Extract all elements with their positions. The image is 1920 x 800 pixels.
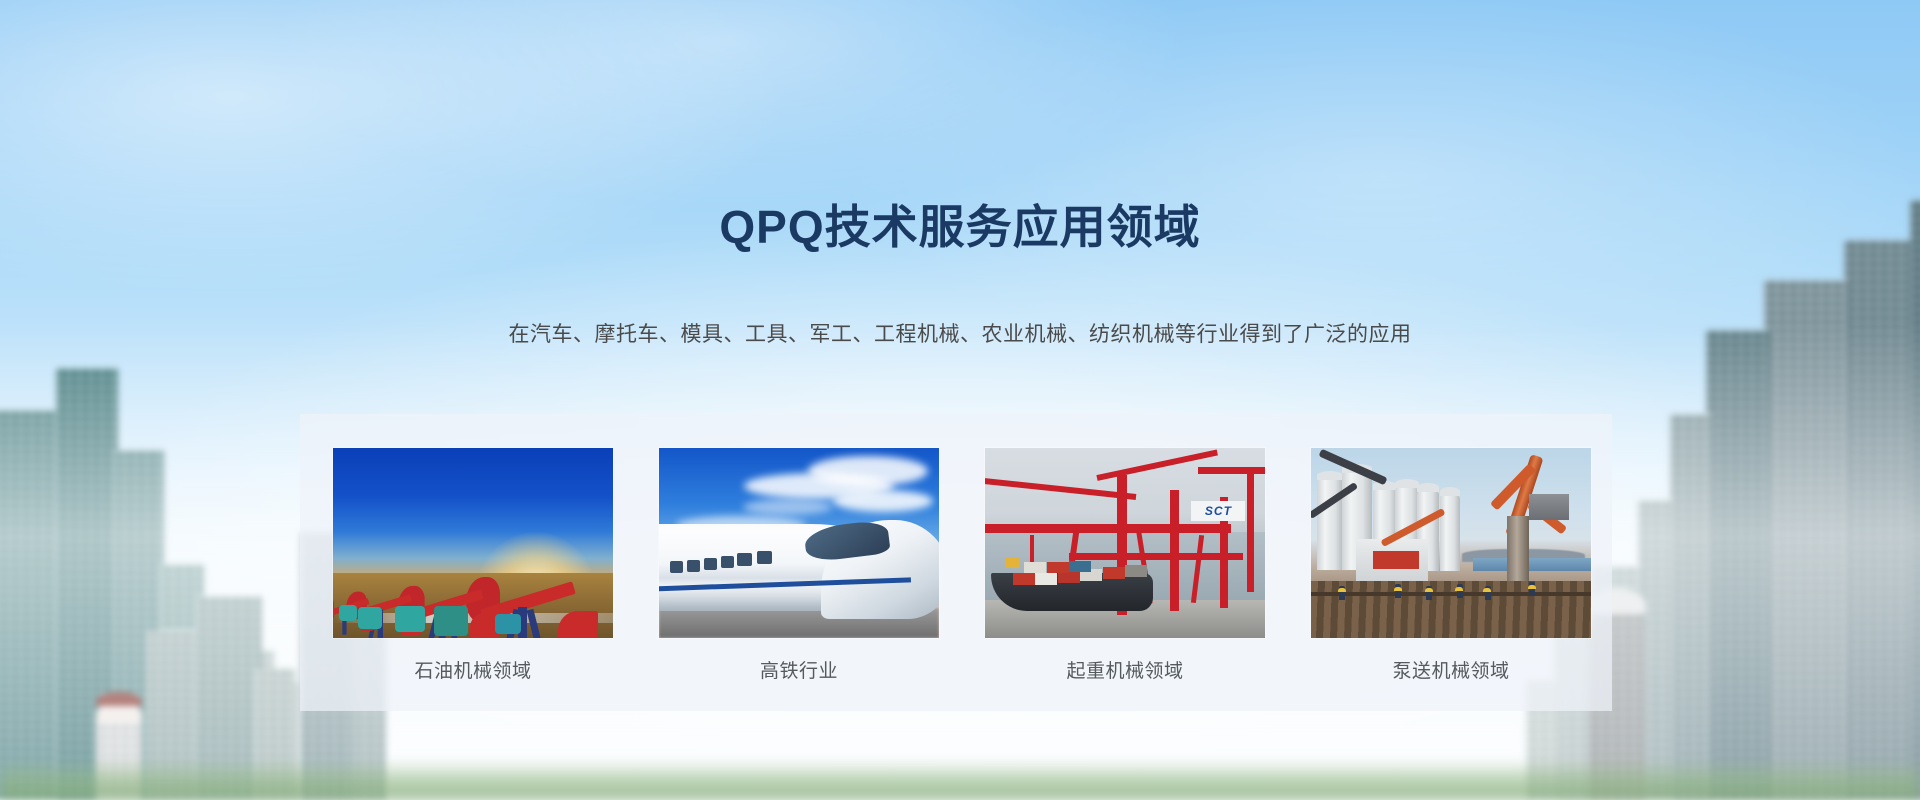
card-caption: 泵送机械领域 [1311,656,1591,683]
card-caption: 起重机械领域 [985,656,1265,683]
application-card-list: 石油机械领域 高铁行业 [333,448,1591,683]
card-pumping-machinery[interactable]: 泵送机械领域 [1311,448,1591,683]
card-crane-machinery[interactable]: SCT 起重机械领域 [985,448,1265,683]
card-caption: 石油机械领域 [333,656,613,683]
page-subtitle: 在汽车、摩托车、模具、工具、军工、工程机械、农业机械、纺织机械等行业得到了广泛的… [0,321,1920,349]
high-speed-train-photo[interactable] [659,448,939,638]
card-oil-machinery[interactable]: 石油机械领域 [333,448,613,683]
concrete-pump-photo[interactable] [1311,448,1591,638]
card-caption: 高铁行业 [659,656,939,683]
oil-pumpjacks-photo[interactable] [333,448,613,638]
page-title: QPQ技术服务应用领域 [0,198,1920,256]
card-high-speed-rail[interactable]: 高铁行业 [659,448,939,683]
port-gantry-cranes-photo[interactable]: SCT [985,448,1265,638]
crane-logo-text: SCT [1191,501,1245,521]
